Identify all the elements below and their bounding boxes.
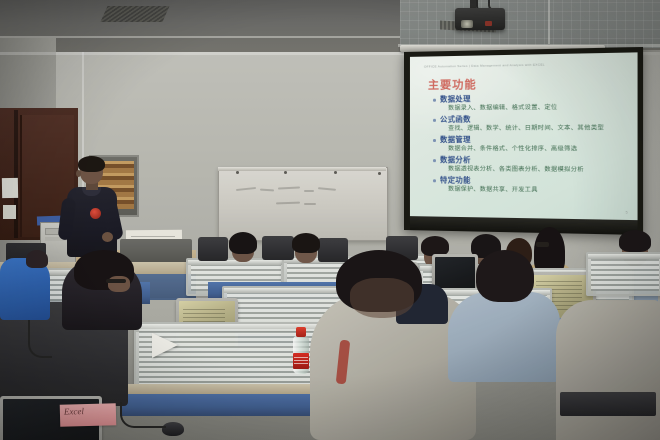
slide-bullet-sub: 数据合并、条件格式、个性化排序、高级筛选 (432, 145, 629, 155)
slide-bullet-head: 公式函数 (432, 114, 629, 125)
person-right-foreground (556, 300, 660, 440)
slide-bullet-head: 数据处理 (432, 93, 629, 105)
person-head (26, 250, 48, 268)
whiteboard-screw (378, 172, 381, 175)
whiteboard-writing (232, 186, 372, 216)
folded-paper-tent (152, 333, 178, 358)
slide-bullet-sub: 数据透视表分析、各类图表分析、数据模拟分析 (432, 165, 629, 176)
desk-name-label-text: Excel (64, 406, 84, 417)
monitor-rear (262, 236, 294, 260)
slide-bullet-sub: 查找、逻辑、数学、统计、日期时间、文本、其他类型 (432, 124, 629, 134)
instructor-ear (76, 170, 81, 177)
shirt-logo (90, 208, 101, 219)
slide-bullet-sub: 数据录入、数据编辑、格式设置、定位 (432, 103, 629, 114)
keyboard (560, 392, 656, 416)
desk-name-label: Excel (60, 403, 117, 426)
person-arm (556, 300, 660, 440)
cubicle-partition (586, 252, 660, 296)
projection-screen: OFFICE Automation Series | Data Manageme… (404, 47, 643, 235)
wall-paper-note (3, 205, 16, 219)
projector-icon (455, 8, 505, 30)
projector-indicator (485, 21, 492, 26)
ceiling-seam (548, 0, 550, 44)
slide-title: 主要功能 (428, 76, 477, 93)
wall-paper-note (2, 178, 18, 198)
eyeglasses-icon (536, 242, 549, 247)
slide-bullet: 特定功能 数据保护、数据共享、开发工具 (432, 175, 629, 197)
slide-bullet-head: 数据分析 (432, 155, 629, 166)
monitor-rear (198, 237, 228, 261)
eyeglasses-icon (106, 279, 126, 283)
slide-bullet: 数据分析 数据透视表分析、各类图表分析、数据模拟分析 (432, 155, 629, 176)
monitor-cable (28, 316, 52, 358)
person-dark-front (56, 250, 152, 330)
instructor-hair (78, 156, 105, 172)
whiteboard-screw (284, 171, 287, 174)
ceiling-seam (0, 36, 400, 38)
slide-bullet-head: 数据管理 (432, 135, 629, 146)
person-torso (448, 292, 560, 382)
person-neck (350, 278, 414, 318)
whiteboard-screw (236, 171, 239, 174)
ceiling-panel-grid (400, 0, 660, 48)
slide-bullet-head: 特定功能 (432, 175, 629, 187)
slide-bullet: 公式函数 查找、逻辑、数学、统计、日期时间、文本、其他类型 (432, 114, 629, 134)
student-hair (229, 232, 257, 254)
person-light-blue-shirt (446, 250, 564, 382)
whiteboard-rail (218, 167, 386, 171)
slide-bullet-list: 数据处理 数据录入、数据编辑、格式设置、定位 公式函数 查找、逻辑、数学、统计、… (432, 93, 629, 198)
student-midrow-1 (228, 232, 258, 264)
air-vent-icon (100, 6, 169, 22)
person-blue-jacket (0, 250, 58, 320)
student-hair (619, 230, 651, 252)
slide-bullet: 数据处理 数据录入、数据编辑、格式设置、定位 (432, 93, 629, 114)
projector-lens (461, 20, 473, 28)
projection-screen-surface: OFFICE Automation Series | Data Manageme… (410, 52, 638, 220)
slide-bullet: 数据管理 数据合并、条件格式、个性化排序、高级筛选 (432, 135, 629, 155)
partition-glass (591, 259, 659, 291)
person-hair (476, 250, 534, 302)
mouse-cable (120, 402, 166, 428)
instructor-hand (102, 232, 113, 242)
whiteboard-screw (334, 171, 337, 174)
classroom-photo: OFFICE Automation Series | Data Manageme… (0, 0, 660, 440)
slide-page-number: 5 (626, 210, 628, 214)
